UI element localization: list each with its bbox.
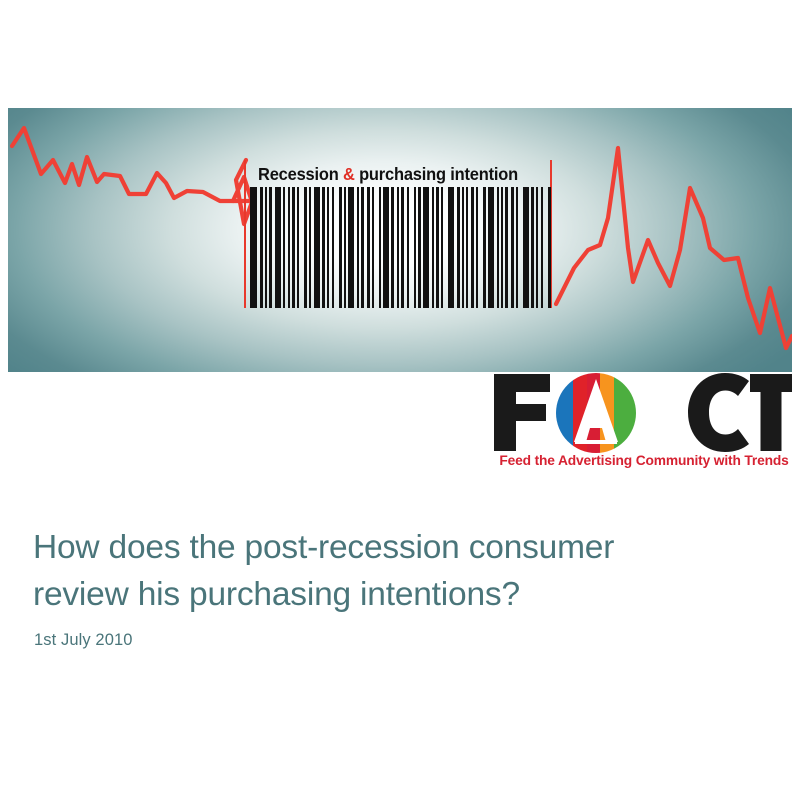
barcode-bar	[441, 187, 443, 308]
barcode-bar	[367, 187, 370, 308]
barcode-bar	[357, 187, 359, 308]
barcode-bar	[471, 187, 474, 308]
barcode-bar	[372, 187, 374, 308]
barcode-bar	[511, 187, 514, 308]
barcode-bar	[344, 187, 346, 308]
barcode-bar	[391, 187, 394, 308]
barcode-bar	[339, 187, 342, 308]
barcode-graphic: Recession & purchasing intention	[244, 160, 554, 308]
barcode-bar	[483, 187, 486, 308]
title-slide: Recession & purchasing intention	[0, 0, 800, 800]
barcode-bar	[414, 187, 416, 308]
barcode-label-prefix: Recession	[258, 164, 343, 184]
barcode-bar	[283, 187, 285, 308]
barcode-bar	[488, 187, 494, 308]
barcode-bar	[348, 187, 354, 308]
barcode-bar	[407, 187, 409, 308]
barcode-bar	[275, 187, 281, 308]
barcode-bar	[536, 187, 538, 308]
barcode-bar	[332, 187, 334, 308]
barcode-label-ampersand: &	[343, 164, 355, 184]
barcode-bar	[260, 187, 263, 308]
logo-letter-t	[750, 374, 792, 451]
barcode-bar	[516, 187, 518, 308]
barcode-bar	[269, 187, 272, 308]
barcode-label-suffix: purchasing intention	[355, 164, 518, 184]
barcode-bar	[361, 187, 364, 308]
barcode-bar	[523, 187, 529, 308]
barcode-bar	[457, 187, 460, 308]
barcode-bar	[423, 187, 429, 308]
barcode-bar	[309, 187, 311, 308]
barcode-bar	[531, 187, 534, 308]
fact-tagline: Feed the Advertising Community with Tren…	[499, 453, 790, 469]
hero-banner: Recession & purchasing intention	[8, 108, 792, 372]
slide-date: 1st July 2010	[34, 629, 133, 651]
logo-letter-c	[688, 373, 749, 452]
barcode-bar	[541, 187, 543, 308]
barcode-bar	[397, 187, 399, 308]
barcode-bar	[379, 187, 381, 308]
barcode-bar	[383, 187, 389, 308]
barcode-bar	[401, 187, 404, 308]
barcode-bars	[244, 187, 554, 308]
chart-line-right	[556, 148, 792, 348]
barcode-bar	[501, 187, 503, 308]
barcode-label: Recession & purchasing intention	[258, 161, 518, 187]
barcode-bar	[314, 187, 320, 308]
barcode-bar	[304, 187, 307, 308]
barcode-bar	[505, 187, 508, 308]
barcode-bar	[297, 187, 299, 308]
barcode-bar	[418, 187, 421, 308]
chart-line-left	[12, 128, 252, 201]
barcode-bar	[448, 187, 454, 308]
barcode-bar	[288, 187, 290, 308]
logo-letter-a-emblem	[554, 370, 636, 454]
fact-wordmark	[492, 370, 794, 454]
barcode-bar	[250, 187, 257, 308]
barcode-bar	[497, 187, 499, 308]
slide-headline-line1: How does the post-recession consumer	[33, 524, 753, 571]
slide-headline: How does the post-recession consumer rev…	[33, 524, 753, 618]
barcode-bar	[265, 187, 267, 308]
barcode-bar	[548, 187, 551, 308]
fact-logo: Feed the Advertising Community with Tren…	[492, 370, 794, 480]
barcode-bar	[327, 187, 329, 308]
barcode-bar	[292, 187, 295, 308]
barcode-bar	[476, 187, 478, 308]
barcode-bar	[462, 187, 464, 308]
barcode-bar	[436, 187, 439, 308]
slide-headline-line2: review his purchasing intentions?	[33, 571, 753, 618]
barcode-bar	[322, 187, 325, 308]
barcode-bar	[432, 187, 434, 308]
logo-letter-f	[494, 374, 550, 451]
barcode-bar	[466, 187, 468, 308]
